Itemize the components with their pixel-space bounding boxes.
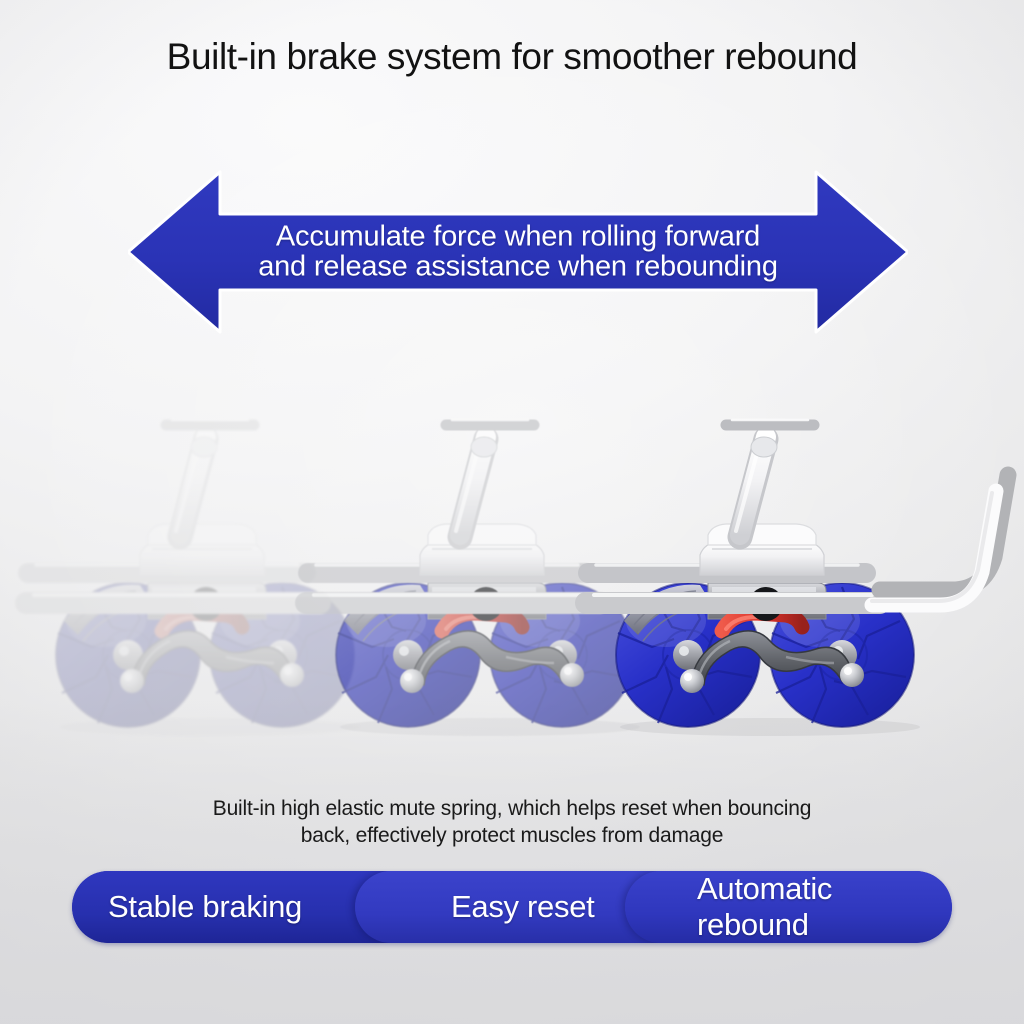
page-title: Built-in brake system for smoother rebou… (0, 36, 1024, 79)
arrow-text-line-2: and release assistance when rebounding (214, 252, 822, 282)
caption-line-2: back, effectively protect muscles from d… (130, 823, 894, 850)
feature-pill-automatic-rebound[interactable]: Automatic rebound (625, 871, 952, 943)
arrow-banner-text: Accumulate force when rolling forward an… (128, 222, 908, 283)
arrow-banner: Accumulate force when rolling forward an… (128, 168, 908, 336)
product-caption: Built-in high elastic mute spring, which… (130, 796, 894, 850)
background-floor-gradient (0, 700, 1024, 1024)
ab-roller-sharp (580, 405, 1010, 735)
caption-line-1: Built-in high elastic mute spring, which… (213, 797, 811, 820)
product-feature-poster: Built-in brake system for smoother rebou… (0, 0, 1024, 1024)
feature-pill-bar: Stable braking Easy reset Automatic rebo… (72, 871, 952, 943)
handlebar-right-curve (872, 475, 1008, 605)
product-photo-stage (0, 390, 1024, 735)
arrow-text-line-1: Accumulate force when rolling forward (276, 221, 760, 253)
